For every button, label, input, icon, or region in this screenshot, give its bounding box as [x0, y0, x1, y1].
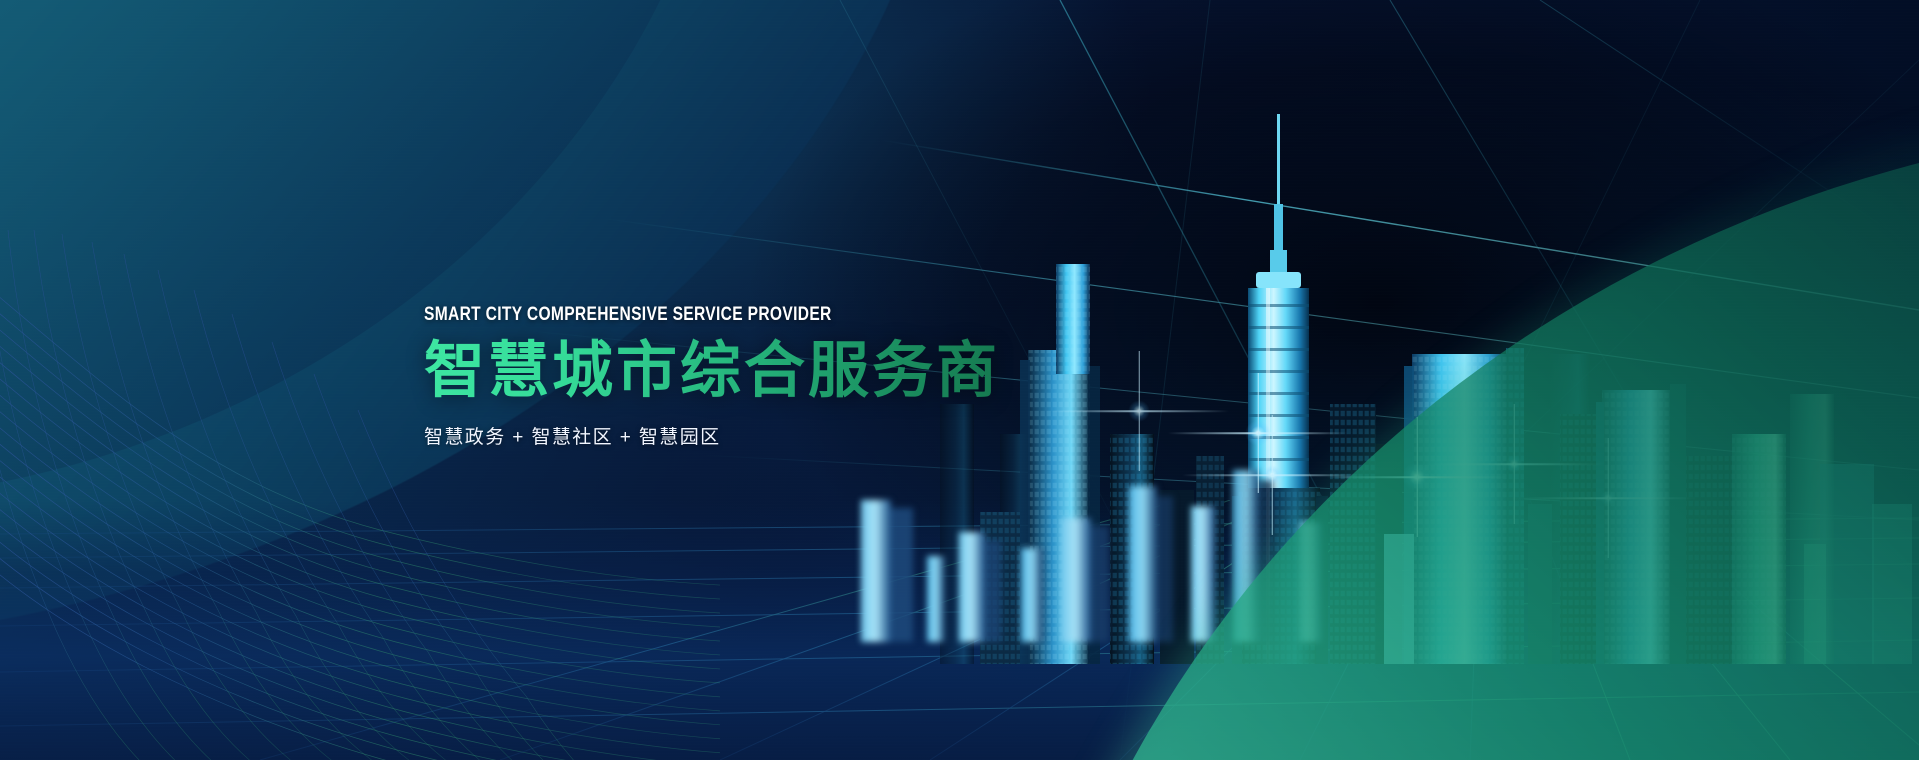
page-title: 智慧城市综合服务商: [424, 338, 1000, 404]
eyebrow-text: SMART CITY COMPREHENSIVE SERVICE PROVIDE…: [424, 305, 896, 325]
hero-banner: SMART CITY COMPREHENSIVE SERVICE PROVIDE…: [0, 0, 1919, 760]
hero-copy: SMART CITY COMPREHENSIVE SERVICE PROVIDE…: [424, 305, 1000, 449]
subtitle-text: 智慧政务 + 智慧社区 + 智慧园区: [424, 422, 1000, 449]
